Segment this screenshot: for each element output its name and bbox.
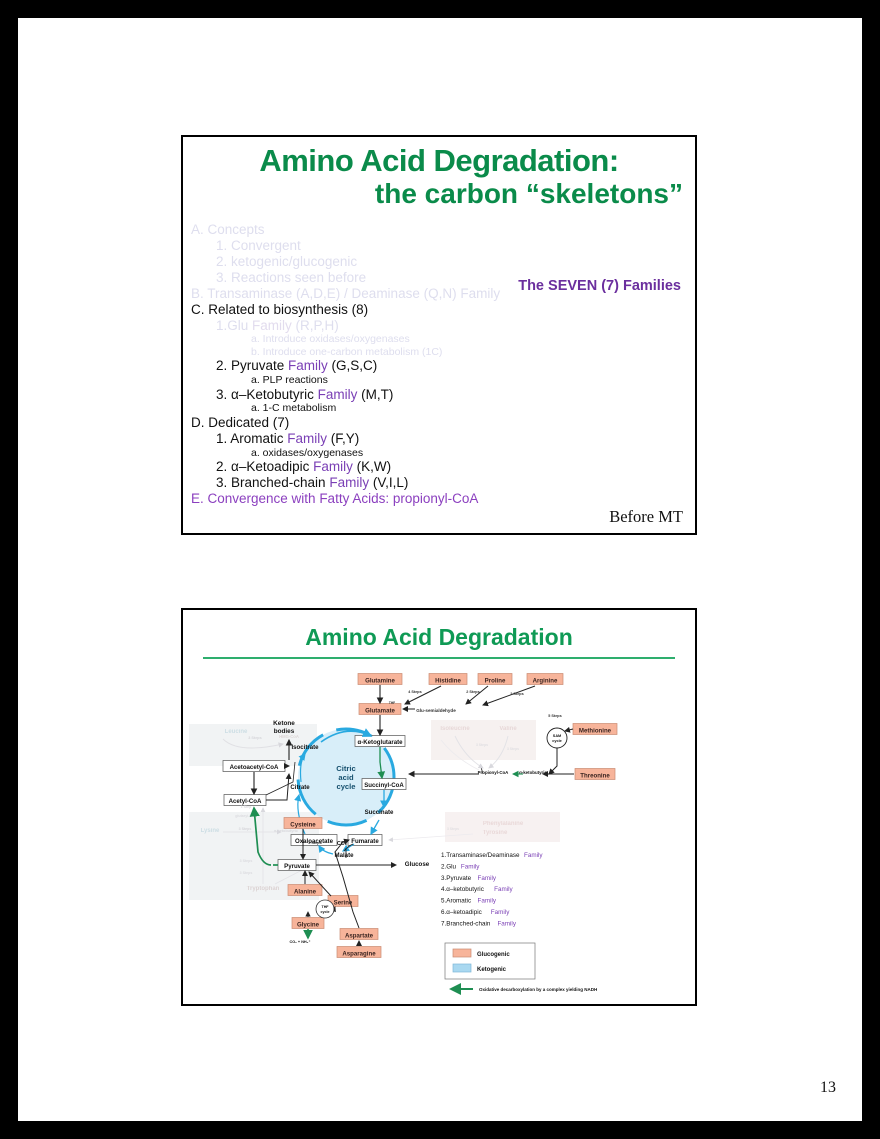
tryptophan-label: Tryptophan — [247, 886, 280, 892]
steps-valine: 3 Steps — [507, 747, 519, 751]
outline-item-c1b: b. Introduce one-carbon metabolism (1C) — [189, 346, 693, 358]
outline-item-family-word: Family — [329, 475, 369, 490]
outline-item-c1: 1.Glu Family (R,P,H) — [189, 318, 693, 334]
pathway-arrow — [319, 846, 333, 854]
ketoadipic-faded: α-ketobutyric — [274, 829, 298, 833]
glucose-label: Glucose — [405, 861, 430, 868]
outline-item-suffix: (G,S,C) — [328, 358, 378, 373]
pathway-svg: CitricacidcycleGlutamineHistidineProline… — [183, 662, 697, 1002]
tyrosine-label: Tyrosine — [483, 830, 508, 836]
outline-item-text: E. Convergence with Fatty Acids: propion… — [191, 491, 478, 506]
outline-item-c: C. Related to biosynthesis (8) — [189, 302, 693, 318]
pathway-arrow — [266, 774, 289, 800]
thf-cycle-label-2: cycle — [321, 910, 330, 914]
succinyl-coa-label: Succinyl-CoA — [364, 782, 404, 789]
outline-item-b: B. Transaminase (A,D,E) / Deaminase (Q,N… — [189, 286, 693, 302]
arginine-label: Arginine — [533, 677, 558, 684]
co2-nh4-label: CO₂ + NH₄⁺ — [289, 940, 310, 944]
outline-item-e: E. Convergence with Fatty Acids: propion… — [189, 491, 693, 507]
histidine-label: Histidine — [435, 677, 461, 684]
legend-swatch-ketogenic — [453, 964, 471, 972]
before-mt-note: Before MT — [609, 507, 683, 527]
valine-label: Valine — [499, 726, 517, 732]
isocitrate-label: Isocitrate — [291, 744, 319, 751]
lysine-label: Lysine — [201, 828, 220, 834]
family-item-1-name: 1.Transaminase/Deaminase — [441, 852, 520, 859]
outline-item-d2: 2. α–Ketoadipic Family (K,W) — [189, 459, 693, 475]
sam-cycle-label-2: cycle — [552, 739, 562, 743]
outline-item-text: a. Introduce oxidases/oxygenases — [251, 333, 410, 345]
legend-label-glucogenic: Glucogenic — [477, 952, 510, 958]
family-item-6-name: 6.α–ketoadipic — [441, 909, 482, 916]
legend-box — [445, 943, 535, 979]
thf-small-label: THF — [389, 701, 395, 705]
cycle-label-3: cycle — [336, 782, 355, 791]
outline-item-suffix: (F,Y) — [327, 431, 359, 446]
family-item-3-family: Family — [478, 875, 497, 882]
outline-item-a3: 3. Reactions seen before — [189, 270, 693, 286]
steps-aromatic: 3 Steps — [447, 827, 459, 831]
pyruvate-label: Pyruvate — [284, 863, 310, 870]
family-item-5-name: 5.Aromatic — [441, 898, 471, 905]
methionine-label: Methionine — [579, 727, 612, 734]
proline-label: Proline — [485, 677, 506, 684]
outline-item-c1a: a. Introduce oxidases/oxygenases — [189, 333, 693, 345]
outline-item-text: B. Transaminase (A,D,E) / Deaminase (Q,N… — [191, 286, 500, 301]
family-item-7-family: Family — [497, 920, 516, 927]
co2-label: CO₂ — [337, 841, 348, 847]
outline-item-a2: 2. ketogenic/glucogenic — [189, 254, 693, 270]
family-item-5-family: Family — [478, 898, 497, 905]
family-item-7-name: 7.Branched-chain — [441, 920, 491, 927]
steps-1-faded: 1 Step — [241, 805, 253, 809]
outline-item-c2: 2. Pyruvate Family (G,S,C) — [189, 358, 693, 374]
faded-panel-aromatic — [445, 812, 560, 842]
outline-item-text: 3. α–Ketobutyric — [216, 387, 318, 402]
outline-item-c2a: a. PLP reactions — [189, 374, 693, 386]
outline-item-text: 3. Branched-chain — [216, 475, 329, 490]
pathway-arrow — [405, 686, 441, 704]
thf-cycle-circle — [316, 900, 334, 918]
family-item-2-family: Family — [461, 863, 480, 870]
outline-item-text: C. Related to biosynthesis (8) — [191, 302, 368, 317]
outline-item-c3: 3. α–Ketobutyric Family (M,T) — [189, 387, 693, 403]
legend-label-ketogenic: Ketogenic — [477, 967, 507, 973]
sam-cycle-label-1: SAM — [553, 734, 561, 738]
slide-1: Amino Acid Degradation: the carbon “skel… — [181, 135, 697, 535]
glu-semialdehyde-label: Glu-semialdehyde — [416, 708, 456, 713]
glycine-label: Glycine — [297, 921, 320, 928]
cycle-label-1: Citric — [336, 764, 355, 773]
glutamine-label: Glutamine — [365, 677, 395, 684]
acetoacetyl-coa-label: Acetoacetyl-CoA — [230, 764, 279, 771]
pathway-arrow — [549, 748, 557, 774]
pathway-arrow — [483, 686, 535, 705]
sam-cycle-circle — [547, 728, 567, 748]
outline-item-d1a: a. oxidases/oxygenases — [189, 447, 693, 459]
legend-note: Oxidative decarboxylation by a complex y… — [479, 987, 597, 992]
slide1-title-line1: Amino Acid Degradation: — [189, 144, 689, 177]
succinate-label: Succinate — [365, 809, 394, 816]
outline-item-text: 3. Reactions seen before — [216, 270, 366, 285]
leucine-label: Leucine — [225, 729, 248, 735]
steps-2b-label: 2 Steps — [510, 692, 524, 696]
steps-3-leucine: 3 Steps — [248, 736, 262, 740]
outline-item-suffix: (R,P,H) — [292, 318, 339, 333]
steps-2a-label: 2 Steps — [466, 690, 480, 694]
malate-label: Malate — [335, 852, 355, 859]
slide2-title: Amino Acid Degradation — [183, 624, 695, 651]
slide1-outline: A. Concepts1. Convergent2. ketogenic/glu… — [189, 222, 693, 507]
outline-item-suffix: (M,T) — [357, 387, 393, 402]
family-item-1-family: Family — [524, 852, 543, 859]
asparagine-label: Asparagine — [342, 950, 376, 957]
outline-item-text: a. oxidases/oxygenases — [251, 447, 363, 459]
alanine-label: Alanine — [294, 888, 317, 895]
phenylalanine-label: Phenylalanine — [483, 821, 524, 827]
steps-4-label: 4 Steps — [408, 690, 422, 694]
thf-cycle-label-1: THF — [322, 905, 330, 909]
family-item-3-name: 3.Pyruvate — [441, 875, 472, 882]
glutamate-label: Glutamate — [365, 707, 395, 714]
outline-item-suffix: (K,W) — [353, 459, 391, 474]
steps-3-faded: 3 Steps — [240, 859, 253, 863]
steps-3-cysteine: 3 Steps — [308, 841, 322, 845]
threonine-label: Threonine — [580, 772, 610, 779]
family-item-2-name: 2.Glu — [441, 863, 457, 870]
hmg-coa-label: HMG-CoA — [279, 734, 299, 739]
cysteine-label: Cysteine — [290, 821, 316, 828]
outline-item-text: b. Introduce one-carbon metabolism (1C) — [251, 346, 442, 358]
steps-lysine: 3 Steps — [239, 827, 252, 831]
outline-item-family-word: Family — [318, 387, 358, 402]
outline-item-text: D. Dedicated (7) — [191, 415, 289, 430]
outline-item-text: 2. α–Ketoadipic — [216, 459, 313, 474]
slide-2: Amino Acid Degradation CitricacidcycleGl… — [181, 608, 697, 1006]
outline-item-text: a. 1-C metabolism — [251, 402, 336, 414]
document-page: Amino Acid Degradation: the carbon “skel… — [18, 18, 862, 1121]
outline-item-text: 1.Glu — [216, 318, 252, 333]
title-underline — [203, 657, 675, 659]
ketone-bodies-line1: Ketone — [273, 720, 295, 727]
legend-swatch-glucogenic — [453, 949, 471, 957]
family-item-6-family: Family — [491, 909, 510, 916]
outline-item-family-word: Family — [252, 318, 292, 333]
outline-item-text: a. PLP reactions — [251, 374, 328, 386]
outline-item-d1: 1. Aromatic Family (F,Y) — [189, 431, 693, 447]
isoleucine-label: Isoleucine — [440, 726, 470, 732]
family-item-4-name: 4.α–ketobutyric — [441, 886, 484, 893]
amino-acid-degradation-diagram: CitricacidcycleGlutamineHistidineProline… — [183, 662, 697, 1002]
cycle-label-2: acid — [338, 773, 354, 782]
outline-item-d3: 3. Branched-chain Family (V,I,L) — [189, 475, 693, 491]
slide1-title-line2: the carbon “skeletons” — [189, 179, 683, 210]
outline-item-c3a: a. 1-C metabolism — [189, 402, 693, 414]
aspartate-label: Aspartate — [345, 932, 374, 939]
outline-item-text: 1. Aromatic — [216, 431, 287, 446]
outline-item-a1: 1. Convergent — [189, 238, 693, 254]
steps-5-label: 5 Steps — [548, 714, 562, 718]
outline-item-d: D. Dedicated (7) — [189, 415, 693, 431]
outline-item-text: A. Concepts — [191, 222, 265, 237]
outline-item-text: 1. Convergent — [216, 238, 301, 253]
steps-3b-faded: 3 Steps — [240, 871, 253, 875]
outline-item-text: 2. Pyruvate — [216, 358, 288, 373]
family-item-4-family: Family — [494, 886, 513, 893]
outline-item-family-word: Family — [288, 358, 328, 373]
outline-item-family-word: Family — [313, 459, 353, 474]
pathway-arrow — [371, 820, 379, 834]
citrate-label: Citrate — [290, 784, 310, 791]
outline-item-family-word: Family — [287, 431, 327, 446]
outline-item-suffix: (V,I,L) — [369, 475, 408, 490]
pathway-arrow — [466, 686, 488, 704]
pathway-arrow — [565, 729, 573, 731]
page-number: 13 — [820, 1079, 836, 1097]
fumarate-label: Fumarate — [351, 838, 379, 845]
outline-item-a: A. Concepts — [189, 222, 693, 238]
ketoglutarate-label: α-Ketoglutarate — [357, 739, 403, 746]
steps-isoleucine: 3 Steps — [476, 743, 488, 747]
outline-item-text: 2. ketogenic/glucogenic — [216, 254, 357, 269]
